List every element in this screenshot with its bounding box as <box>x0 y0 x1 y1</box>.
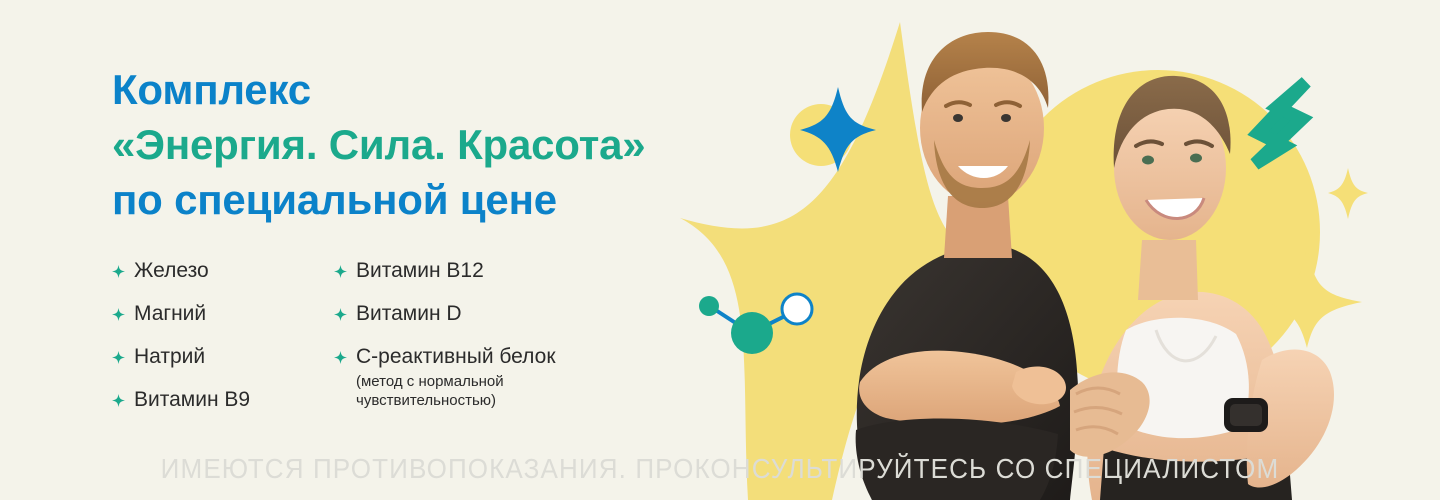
page-title: Комплекс «Энергия. Сила. Красота» по спе… <box>112 62 672 227</box>
sparkle-bullet-icon <box>112 351 125 364</box>
list-item-label: Витамин B9 <box>134 387 250 413</box>
list-item: Магний <box>112 301 334 327</box>
list-item: Железо <box>112 258 334 284</box>
feature-column-right: Витамин B12 Витамин D С-реактивный белок… <box>334 258 664 430</box>
sparkle-bullet-icon <box>112 308 125 321</box>
list-item: Витамин D <box>334 301 664 327</box>
list-item: С-реактивный белок <box>334 344 664 370</box>
feature-list: Железо Магний Натрий Витамин B9 <box>112 258 672 430</box>
list-item: Натрий <box>112 344 334 370</box>
headline-line-1: Комплекс <box>112 62 672 117</box>
sparkle-bullet-icon <box>334 308 347 321</box>
list-item-label: Натрий <box>134 344 205 370</box>
feature-column-left: Железо Магний Натрий Витамин B9 <box>112 258 334 430</box>
list-item: Витамин B12 <box>334 258 664 284</box>
list-item-label: Витамин D <box>356 301 462 327</box>
promo-banner: Комплекс «Энергия. Сила. Красота» по спе… <box>0 0 1440 500</box>
headline-line-3: по специальной цене <box>112 172 672 227</box>
list-item-label: С-реактивный белок <box>356 344 556 370</box>
person-woman <box>1070 76 1334 500</box>
headline-block: Комплекс «Энергия. Сила. Красота» по спе… <box>112 62 672 227</box>
list-item-label: Витамин B12 <box>356 258 484 284</box>
sparkle-bullet-icon <box>334 351 347 364</box>
list-item-note: (метод с нормальной чувствительностью) <box>356 372 586 410</box>
person-man <box>856 32 1079 500</box>
list-item-label: Магний <box>134 301 206 327</box>
sparkle-bullet-icon <box>112 265 125 278</box>
list-item: Витамин B9 <box>112 387 334 413</box>
list-item-label: Железо <box>134 258 209 284</box>
sparkle-bullet-icon <box>112 394 125 407</box>
headline-line-2: «Энергия. Сила. Красота» <box>112 117 672 172</box>
disclaimer-text: ИМЕЮТСЯ ПРОТИВОПОКАЗАНИЯ. ПРОКОНСУЛЬТИРУ… <box>50 452 1389 486</box>
sparkle-bullet-icon <box>334 265 347 278</box>
